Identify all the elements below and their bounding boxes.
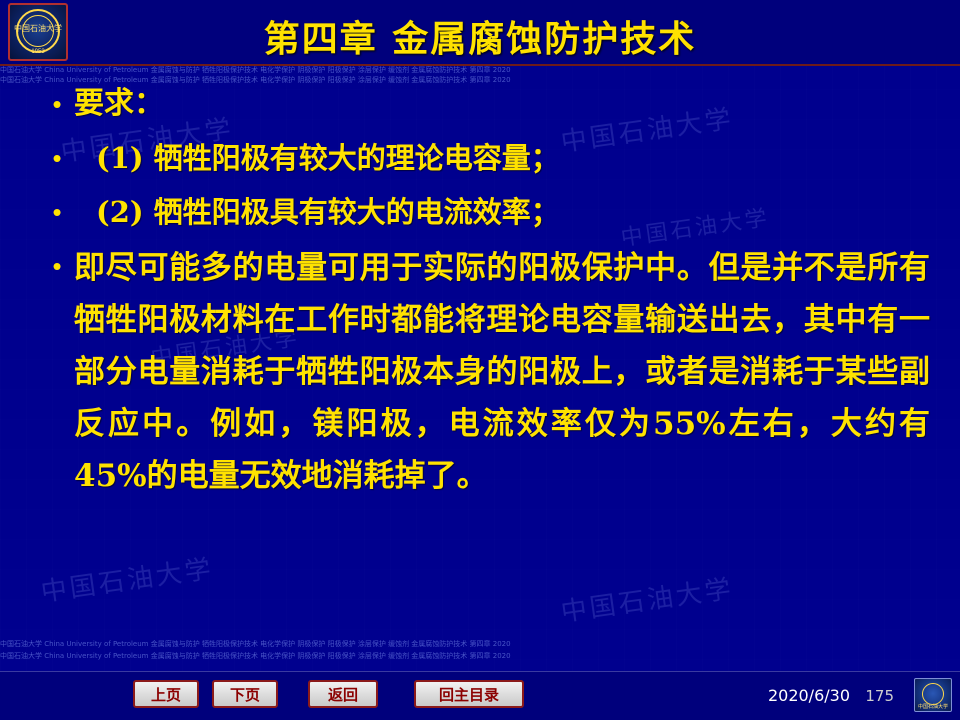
slide-body: • 要求： • (1) 牺牲阳极有较大的理论电容量； • (2) 牺牲阳极具有较… [40,80,930,508]
micro-text-band-top: 中国石油大学 China University of Petroleum 金属腐… [0,66,960,75]
bullet-marker-icon: • [40,134,74,182]
slide-header: 中国石油大学 1953 第四章 金属腐蚀防护技术 [0,0,960,66]
bullet-item: • (2) 牺牲阳极具有较大的电流效率； [40,188,930,236]
bullet-marker-icon: • [40,80,74,128]
return-button[interactable]: 返回 [308,680,378,708]
paragraph-text: 即尽可能多的电量可用于实际的阳极保护中。但是并不是所有牺牲阳极材料在工作时都能将… [74,242,930,502]
date-label: 2020/6/30 [768,686,850,705]
page-number-label: 175 [865,687,894,705]
bullet-text: (2) 牺牲阳极具有较大的电流效率； [74,188,930,236]
bullet-item: • (1) 牺牲阳极有较大的理论电容量； [40,134,930,182]
next-page-button[interactable]: 下页 [212,680,278,708]
bullet-text: 要求： [74,80,930,128]
page-title: 第四章 金属腐蚀防护技术 [0,10,960,62]
bullet-item: • 要求： [40,80,930,128]
micro-text-band-bottom-2: 中国石油大学 China University of Petroleum 金属腐… [0,652,960,661]
slide-canvas: 中国石油大学 中国石油大学 中国石油大学 中国石油大学 中国石油大学 中国石油大… [0,0,960,720]
paragraph-item: • 即尽可能多的电量可用于实际的阳极保护中。但是并不是所有牺牲阳极材料在工作时都… [40,242,930,502]
watermark-text: 中国石油大学 [558,568,735,629]
slide-footer: 上页 下页 返回 回主目录 2020/6/30 175 中国石油大学 [0,671,960,720]
corner-emblem-icon: 中国石油大学 [914,678,952,712]
corner-emblem-label: 中国石油大学 [915,703,951,710]
prev-page-button[interactable]: 上页 [133,680,199,708]
micro-text-band-bottom: 中国石油大学 China University of Petroleum 金属腐… [0,640,960,649]
main-menu-button[interactable]: 回主目录 [414,680,524,708]
bullet-text: (1) 牺牲阳极有较大的理论电容量； [74,134,930,182]
bullet-marker-icon: • [40,188,74,236]
corner-emblem-ring [922,683,944,705]
bullet-marker-icon: • [40,242,74,290]
watermark-text: 中国石油大学 [38,548,215,609]
